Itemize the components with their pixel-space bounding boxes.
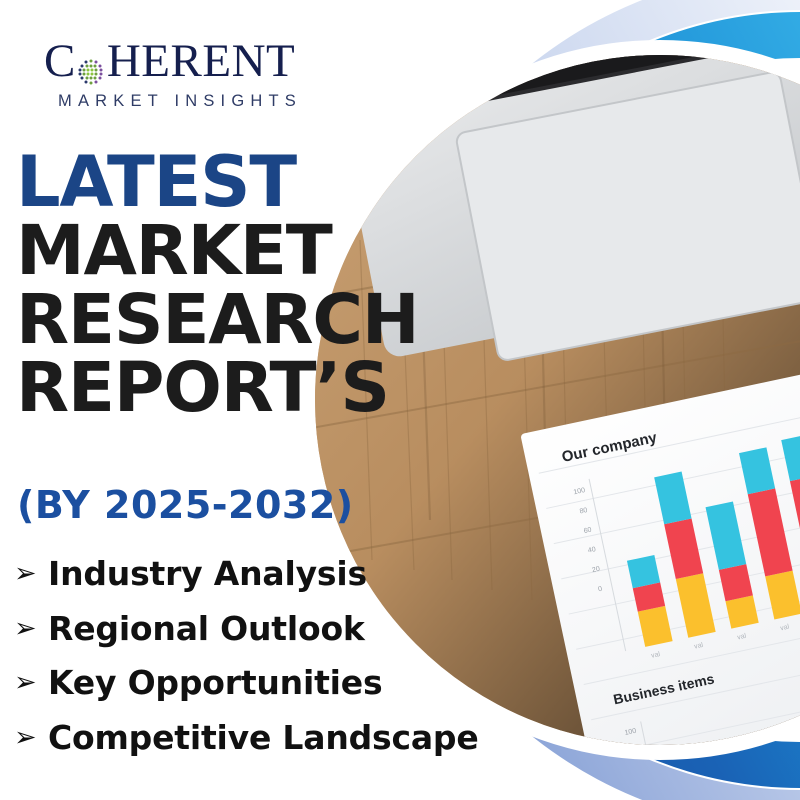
list-item-label: Regional Outlook	[48, 607, 365, 651]
logo-letter-c: C	[44, 38, 76, 85]
bar-series	[609, 416, 800, 647]
list-item-label: Key Opportunities	[48, 661, 382, 705]
svg-text:N: N	[566, 0, 582, 10]
forecast-period: (BY 2025-2032)	[17, 483, 354, 527]
globe-dotted-icon	[76, 49, 106, 79]
page-title: LATEST MARKET RESEARCH REPORT’S	[16, 148, 436, 422]
svg-text:80: 80	[630, 746, 639, 754]
svg-text:100: 100	[624, 728, 637, 737]
headline-line-1: LATEST	[16, 148, 436, 217]
headline-line-3: RESEARCH	[16, 286, 436, 354]
list-item: ➢ Competitive Landscape	[14, 716, 534, 760]
arrow-bullet-icon: ➢	[14, 724, 48, 751]
list-item-label: Competitive Landscape	[48, 716, 479, 760]
arrow-bullet-icon: ➢	[14, 560, 48, 587]
svg-text:0: 0	[598, 586, 603, 594]
list-item: ➢ Regional Outlook	[14, 607, 534, 651]
svg-text:val: val	[780, 624, 791, 633]
svg-text:Business items: Business items	[612, 670, 716, 707]
report-sheet: Our company 10080 6040 200	[520, 347, 800, 800]
svg-text:val: val	[737, 633, 748, 642]
svg-text:100: 100	[573, 487, 586, 496]
logo-wordmark: C	[44, 38, 344, 85]
svg-text:val: val	[694, 642, 705, 651]
svg-text:20: 20	[592, 566, 601, 574]
svg-text:V: V	[441, 13, 456, 34]
svg-text:val: val	[651, 651, 662, 660]
poster-canvas: V B N command option command	[0, 0, 800, 800]
brand-logo: C	[44, 38, 344, 111]
logo-tagline: MARKET INSIGHTS	[58, 92, 344, 111]
headline-line-4: REPORT’S	[16, 354, 436, 422]
list-item-label: Industry Analysis	[48, 552, 367, 596]
arrow-bullet-icon: ➢	[14, 615, 48, 642]
svg-text:40: 40	[587, 546, 596, 554]
svg-text:B: B	[503, 1, 518, 22]
svg-text:60: 60	[583, 527, 592, 535]
headline-line-2: MARKET	[16, 217, 436, 285]
feature-list: ➢ Industry Analysis ➢ Regional Outlook ➢…	[14, 552, 534, 770]
list-item: ➢ Key Opportunities	[14, 661, 534, 705]
svg-text:Our company: Our company	[560, 429, 659, 466]
svg-text:40: 40	[637, 781, 646, 789]
svg-text:80: 80	[579, 507, 588, 515]
arrow-bullet-icon: ➢	[14, 669, 48, 696]
list-item: ➢ Industry Analysis	[14, 552, 534, 596]
logo-letters-rest: HERENT	[107, 38, 295, 85]
svg-text:60: 60	[634, 763, 643, 771]
